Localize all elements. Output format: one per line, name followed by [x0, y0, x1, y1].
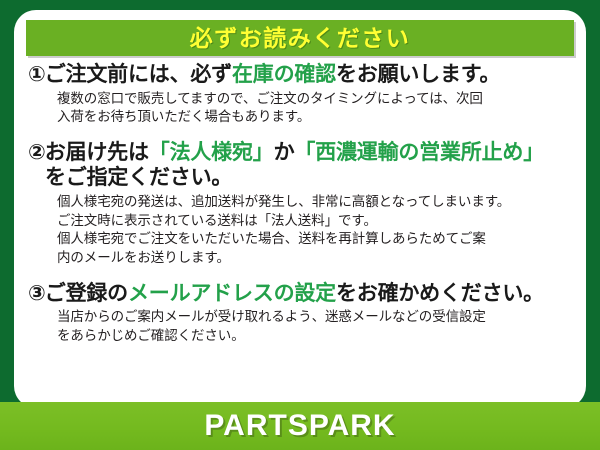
notice-item-1: ①ご注文前には、必ず在庫の確認をお願いします。 複数の窓口で販売してますので、ご…: [14, 62, 586, 127]
notice-item-3-body-line-2: をあらかじめご確認ください。: [57, 327, 578, 346]
notice-item-3-heading: ③ご登録のメールアドレスの設定をお確かめください。: [14, 281, 586, 307]
notice-item-2-body-line-3: 個人様宅宛でご注文をいただいた場合、送料を再計算しあらためてご案: [57, 230, 578, 249]
notice-item-3-heading-part-3: をお確かめください。: [336, 282, 544, 305]
notice-item-3-heading-accent: メールアドレスの設定: [128, 282, 336, 305]
notice-item-2-body-line-1: 個人様宅宛の発送は、追加送料が発生し、非常に高額となってしまいます。: [57, 193, 578, 212]
notice-item-3: ③ご登録のメールアドレスの設定をお確かめください。 当店からのご案内メールが受け…: [14, 281, 586, 346]
notice-item-2-heading-accent-2: 「西濃運輸の営業所止め」: [294, 141, 544, 164]
notice-item-3-number: ③: [28, 282, 45, 305]
notice-item-2-body-line-2: ご注文時に表示されている送料は「法人送料」です。: [57, 212, 578, 231]
notice-item-1-number: ①: [28, 63, 45, 86]
notice-item-2-heading: ②お届け先は「法人様宛」か「西濃運輸の営業所止め」: [14, 140, 586, 166]
notice-item-2-heading-line-2: をご指定ください。: [14, 165, 586, 191]
notice-item-1-body-line-1: 複数の窓口で販売してますので、ご注文のタイミングによっては、次回: [57, 90, 578, 109]
notice-item-1-heading-accent: 在庫の確認: [232, 63, 336, 86]
brand-name: PARTSPARK: [204, 411, 395, 441]
notice-item-1-heading-part-1: ご注文前には、必ず: [45, 63, 232, 86]
notice-item-1-body: 複数の窓口で販売してますので、ご注文のタイミングによっては、次回 入荷をお待ち頂…: [14, 90, 586, 127]
header-bar: 必ずお読みください: [26, 20, 574, 56]
notice-item-3-heading-part-1: ご登録の: [45, 282, 128, 305]
notice-item-3-body: 当店からのご案内メールが受け取れるよう、迷惑メールなどの受信設定 をあらかじめご…: [14, 308, 586, 345]
notice-item-1-heading: ①ご注文前には、必ず在庫の確認をお願いします。: [14, 62, 586, 88]
notice-item-2-heading-part-3: か: [274, 141, 295, 164]
notice-item-1-heading-part-3: をお願いします。: [336, 63, 500, 86]
notice-item-2-body: 個人様宅宛の発送は、追加送料が発生し、非常に高額となってしまいます。 ご注文時に…: [14, 193, 586, 268]
brand-footer-bar: PARTSPARK: [0, 402, 600, 450]
notice-item-1-body-line-2: 入荷をお待ち頂いただく場合もあります。: [57, 108, 578, 127]
notice-item-2-body-line-4: 内のメールをお送りします。: [57, 249, 578, 268]
notice-item-2-number: ②: [28, 141, 45, 164]
notice-item-3-body-line-1: 当店からのご案内メールが受け取れるよう、迷惑メールなどの受信設定: [57, 308, 578, 327]
notice-panel: 必ずお読みください ①ご注文前には、必ず在庫の確認をお願いします。 複数の窓口で…: [14, 10, 586, 408]
page-title: 必ずお読みください: [190, 27, 411, 50]
notice-item-2-heading-accent-1: 「法人様宛」: [149, 141, 274, 164]
notice-item-2-heading-part-1: お届け先は: [45, 141, 149, 164]
notice-items-list: ①ご注文前には、必ず在庫の確認をお願いします。 複数の窓口で販売してますので、ご…: [14, 62, 586, 349]
notice-item-2: ②お届け先は「法人様宛」か「西濃運輸の営業所止め」 をご指定ください。 個人様宅…: [14, 140, 586, 268]
notice-card: 必ずお読みください ①ご注文前には、必ず在庫の確認をお願いします。 複数の窓口で…: [0, 0, 600, 450]
